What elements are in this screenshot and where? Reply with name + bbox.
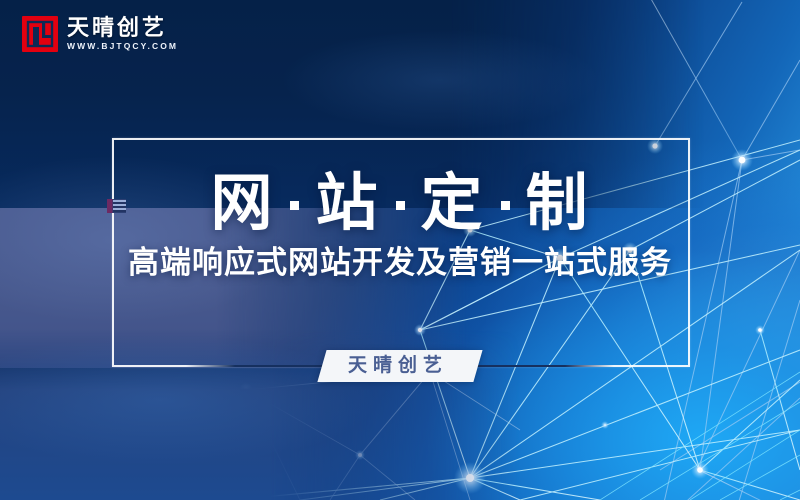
banner-canvas: 天晴创艺 WWW.BJTQCY.COM 网 站 定 制 高端响应式网站开发及营销… [0,0,800,500]
hero-title-char-2: 站 [313,170,381,235]
tianqing-monogram-icon [22,16,58,52]
brand-website: WWW.BJTQCY.COM [67,42,178,51]
hero-text-block: 网 站 定 制 高端响应式网站开发及营销一站式服务 [0,170,800,282]
hero-title-char-3: 定 [419,170,487,235]
badge-rule-right [474,365,614,367]
brand-badge-label: 天晴创艺 [348,355,452,377]
brand-name-cn: 天晴创艺 [67,18,178,40]
hero-subtitle: 高端响应式网站开发及营销一站式服务 [128,245,672,282]
brand-badge: 天晴创艺 [317,350,482,382]
hero-title-char-1: 网 [208,170,276,235]
brand-logo[interactable]: 天晴创艺 WWW.BJTQCY.COM [22,16,178,52]
brand-badge-row: 天晴创艺 [0,350,800,382]
title-separator-dot-2 [396,201,405,210]
title-separator-dot-1 [290,201,299,210]
brand-logo-text: 天晴创艺 WWW.BJTQCY.COM [67,18,178,51]
hero-title-char-4: 制 [524,170,592,235]
hero-title: 网 站 定 制 [208,170,591,235]
badge-rule-left [186,365,326,367]
title-separator-dot-3 [501,201,510,210]
